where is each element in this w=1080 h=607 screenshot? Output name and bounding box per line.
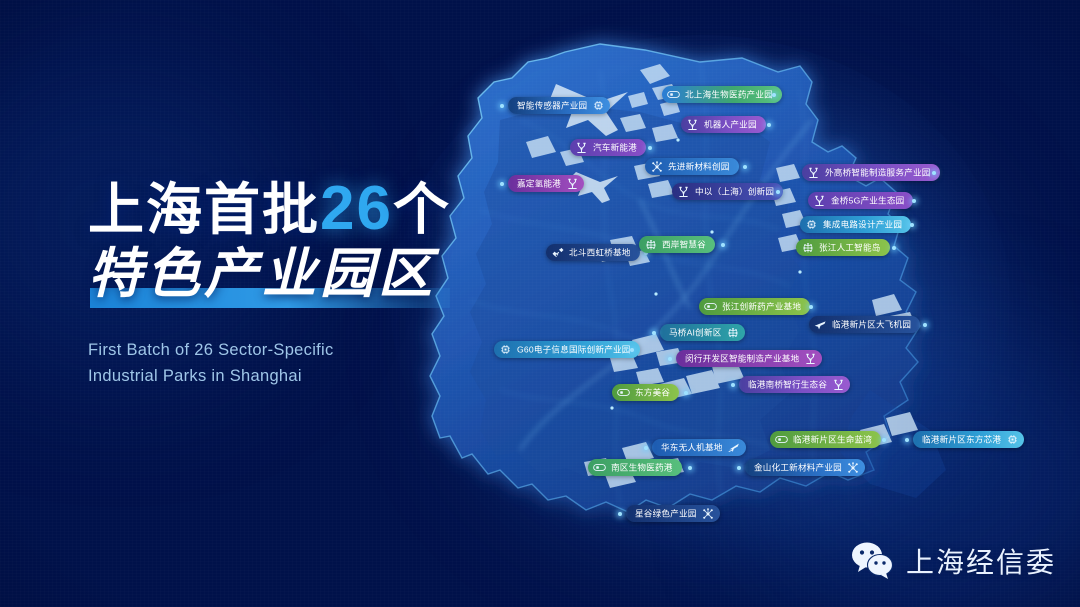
park-label-21[interactable]: 华东无人机基地 — [652, 439, 746, 456]
park-label-4[interactable]: 汽车新能港 — [570, 139, 646, 156]
molecule-icon — [650, 160, 663, 173]
park-label-26[interactable]: 星谷绿色产业园 — [626, 505, 720, 522]
park-marker-dot — [652, 331, 656, 335]
title-block: 上海首批26个 特色产业园区 First Batch of 26 Sector-… — [88, 178, 508, 389]
park-label-text: 北上海生物医药产业园 — [685, 88, 773, 100]
chip-icon — [499, 343, 512, 356]
park-label-text: 南区生物医药港 — [611, 461, 673, 473]
park-marker-dot — [721, 243, 725, 247]
park-marker-dot — [905, 438, 909, 442]
park-marker-dot — [668, 357, 672, 361]
park-label-text: 西岸智慧谷 — [662, 238, 706, 250]
park-label-text: 先进新材料创园 — [668, 160, 730, 172]
park-label-text: 张江人工智能岛 — [819, 241, 881, 253]
park-label-12[interactable]: 北斗西虹桥基地 — [546, 244, 640, 261]
headline-secondary-wrap: 特色产业园区 — [88, 246, 508, 320]
subtitle-line-2: Industrial Parks in Shanghai — [88, 364, 508, 390]
park-label-8[interactable]: 外高桥智能制造服务产业园 — [802, 164, 940, 181]
park-label-5[interactable]: 先进新材料创园 — [645, 158, 739, 175]
park-label-text: 临港南桥智行生态谷 — [748, 378, 827, 390]
park-label-11[interactable]: 张江人工智能岛 — [796, 239, 890, 256]
park-label-text: 嘉定氢能港 — [517, 177, 561, 189]
robot-icon — [807, 166, 820, 179]
park-marker-dot — [684, 391, 688, 395]
brain-icon — [727, 326, 740, 339]
park-label-17[interactable]: G60电子信息国际创新产业园 — [494, 341, 640, 358]
robot-icon — [677, 185, 690, 198]
park-marker-dot — [644, 446, 648, 450]
subtitle: First Batch of 26 Sector-Specific Indust… — [88, 338, 508, 389]
chip-icon — [1006, 433, 1019, 446]
headline-suffix: 个 — [393, 178, 451, 241]
park-marker-dot — [648, 146, 652, 150]
capsule-icon — [617, 386, 630, 399]
capsule-icon — [593, 461, 606, 474]
chip-icon — [805, 218, 818, 231]
infographic-poster: 上海首批26个 特色产业园区 First Batch of 26 Sector-… — [0, 0, 1080, 607]
park-marker-dot — [892, 246, 896, 250]
drone-icon — [728, 441, 741, 454]
wechat-icon — [851, 542, 895, 580]
park-marker-dot — [743, 165, 747, 169]
park-marker-dot — [737, 466, 741, 470]
robot-icon — [575, 141, 588, 154]
park-label-text: 临港新片区大飞机园 — [832, 318, 911, 330]
park-marker-dot — [912, 199, 916, 203]
park-label-text: 北斗西虹桥基地 — [569, 246, 631, 258]
molecule-icon — [847, 461, 860, 474]
park-label-24[interactable]: 南区生物医药港 — [588, 459, 682, 476]
park-label-15[interactable]: 临港新片区大飞机园 — [809, 316, 920, 333]
robot-icon — [566, 177, 579, 190]
park-label-text: 马桥AI创新区 — [669, 326, 722, 338]
park-marker-dot — [618, 512, 622, 516]
park-label-9[interactable]: 金桥5G产业生态园 — [808, 192, 913, 209]
park-label-2[interactable]: 北上海生物医药产业园 — [662, 86, 782, 103]
park-label-13[interactable]: 西岸智慧谷 — [639, 236, 715, 253]
park-label-text: 华东无人机基地 — [661, 441, 723, 453]
park-label-1[interactable]: 智能传感器产业园 — [508, 97, 610, 114]
park-marker-dot — [731, 383, 735, 387]
park-marker-dot — [630, 348, 634, 352]
park-marker-dot — [923, 323, 927, 327]
park-label-3[interactable]: 机器人产业园 — [681, 116, 766, 133]
park-label-text: 金山化工新材料产业园 — [754, 461, 842, 473]
watermark-text: 上海经信委 — [906, 541, 1056, 581]
watermark: 上海经信委 — [851, 541, 1056, 581]
park-marker-dot — [500, 182, 504, 186]
capsule-icon — [667, 88, 680, 101]
park-label-16[interactable]: 马桥AI创新区 — [660, 324, 745, 341]
park-label-text: 机器人产业园 — [704, 118, 757, 130]
park-label-18[interactable]: 闵行开发区智能制造产业基地 — [676, 350, 822, 367]
park-label-6[interactable]: 嘉定氢能港 — [508, 175, 584, 192]
park-marker-dot — [809, 305, 813, 309]
park-label-text: 星谷绿色产业园 — [635, 507, 697, 519]
headline-number: 26 — [320, 174, 393, 243]
park-marker-dot — [772, 93, 776, 97]
headline-secondary: 特色产业园区 — [88, 246, 508, 303]
park-marker-dot — [932, 171, 936, 175]
robot-icon — [832, 378, 845, 391]
molecule-icon — [702, 507, 715, 520]
park-label-text: 智能传感器产业园 — [517, 99, 587, 111]
park-marker-dot — [500, 104, 504, 108]
park-label-20[interactable]: 东方美谷 — [612, 384, 679, 401]
park-label-text: 外高桥智能制造服务产业园 — [825, 166, 931, 178]
park-label-text: 张江创新药产业基地 — [722, 300, 801, 312]
park-label-text: 东方美谷 — [635, 386, 670, 398]
park-label-text: 集成电路设计产业园 — [823, 218, 902, 230]
park-label-text: 临港新片区生命蓝湾 — [793, 433, 872, 445]
brain-icon — [801, 241, 814, 254]
robot-icon — [804, 352, 817, 365]
park-label-text: G60电子信息国际创新产业园 — [517, 343, 631, 355]
park-label-25[interactable]: 金山化工新材料产业园 — [745, 459, 865, 476]
park-label-10[interactable]: 集成电路设计产业园 — [800, 216, 911, 233]
plane-icon — [814, 318, 827, 331]
brain-icon — [644, 238, 657, 251]
park-label-text: 闵行开发区智能制造产业基地 — [685, 352, 799, 364]
park-label-text: 中以（上海）创新园 — [695, 185, 774, 197]
park-label-22[interactable]: 临港新片区生命蓝湾 — [770, 431, 881, 448]
headline-primary: 上海首批26个 — [88, 178, 508, 240]
park-label-7[interactable]: 中以（上海）创新园 — [672, 183, 783, 200]
park-label-19[interactable]: 临港南桥智行生态谷 — [739, 376, 850, 393]
park-marker-dot — [910, 223, 914, 227]
subtitle-line-1: First Batch of 26 Sector-Specific — [88, 338, 508, 364]
park-label-text: 临港新片区东方芯港 — [922, 433, 1001, 445]
park-label-text: 汽车新能港 — [593, 141, 637, 153]
park-label-text: 金桥5G产业生态园 — [831, 194, 904, 206]
robot-icon — [686, 118, 699, 131]
park-marker-dot — [882, 438, 886, 442]
capsule-icon — [704, 300, 717, 313]
capsule-icon — [775, 433, 788, 446]
park-label-23[interactable]: 临港新片区东方芯港 — [913, 431, 1024, 448]
chip-icon — [592, 99, 605, 112]
park-label-14[interactable]: 张江创新药产业基地 — [699, 298, 810, 315]
park-marker-dot — [767, 123, 771, 127]
park-marker-dot — [688, 466, 692, 470]
satellite-icon — [551, 246, 564, 259]
robot-icon — [813, 194, 826, 207]
headline-prefix: 上海首批 — [88, 178, 320, 241]
park-marker-dot — [776, 190, 780, 194]
